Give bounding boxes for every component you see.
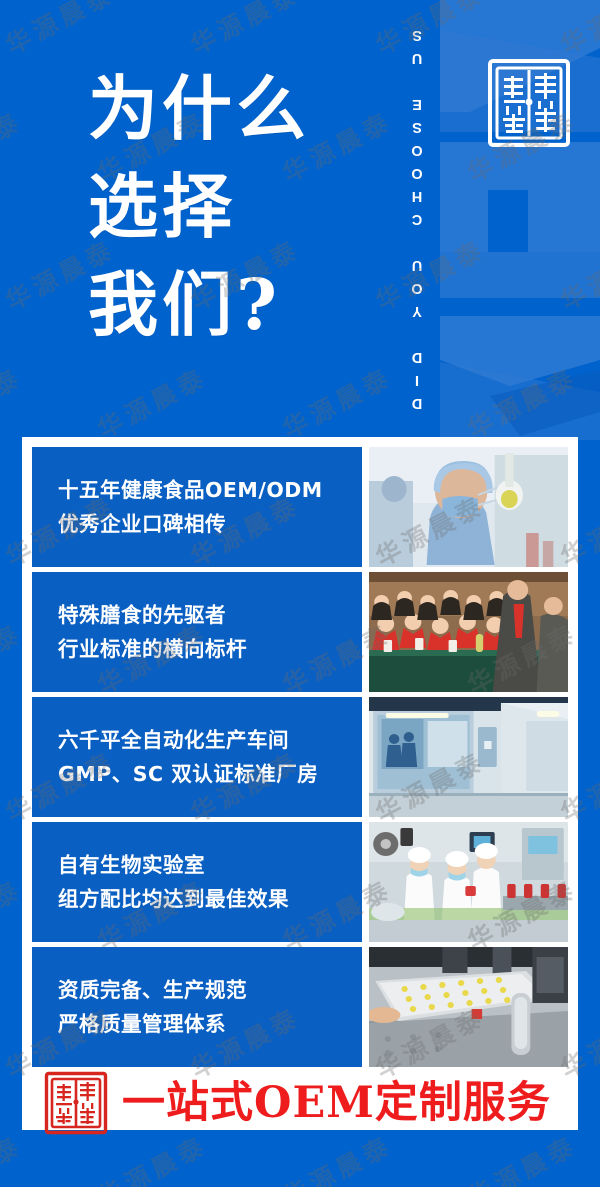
cta-banner-text: 一站式OEM定制服务 [122, 1078, 551, 1128]
feature-card-text: 十五年健康食品OEM/ODM 优秀企业口碑相传 [32, 447, 362, 567]
feature-card[interactable]: 六千平全自动化生产车间 GMP、SC 双认证标准厂房 [32, 697, 568, 817]
seal-icon [486, 56, 572, 150]
feature-card[interactable]: 特殊膳食的先驱者 行业标准的横向标杆 [32, 572, 568, 692]
headline-line-2: 选择 [88, 158, 388, 256]
feature-photo-conference [369, 572, 568, 692]
feature-line-2: 优秀企业口碑相传 [58, 507, 362, 541]
features-panel: 十五年健康食品OEM/ODM 优秀企业口碑相传 [22, 437, 578, 1130]
seal-icon [44, 1071, 108, 1135]
photo-lab-technician [369, 447, 568, 567]
feature-line-1: 自有生物实验室 [58, 848, 362, 882]
feature-card-text: 自有生物实验室 组方配比均达到最佳效果 [32, 822, 362, 942]
feature-line-1: 特殊膳食的先驱者 [58, 598, 362, 632]
feature-line-1: 十五年健康食品OEM/ODM [58, 473, 362, 507]
poster-root: 为什么 选择 我们? DID YOU CHOOSE US [0, 0, 600, 1187]
feature-card[interactable]: 自有生物实验室 组方配比均达到最佳效果 [32, 822, 568, 942]
photo-conference-audience [369, 572, 568, 692]
feature-card-text: 特殊膳食的先驱者 行业标准的横向标杆 [32, 572, 362, 692]
vertical-tagline-text: DID YOU CHOOSE US [409, 20, 425, 411]
photo-cleanroom-corridor [369, 697, 568, 817]
feature-line-2: 组方配比均达到最佳效果 [58, 882, 362, 916]
feature-line-2: 严格质量管理体系 [58, 1007, 362, 1041]
vertical-tagline: DID YOU CHOOSE US [400, 20, 434, 410]
brand-seal-white [486, 56, 572, 150]
feature-card[interactable]: 资质完备、生产规范 严格质量管理体系 [32, 947, 568, 1067]
headline-line-3: 我们? [88, 256, 388, 354]
feature-line-2: 行业标准的横向标杆 [58, 632, 362, 666]
watermark-text: 华源晨泰 [0, 1126, 28, 1187]
page-title: 为什么 选择 我们? [88, 60, 388, 354]
headline-line-1: 为什么 [88, 60, 388, 158]
photo-workers-packaging [369, 822, 568, 942]
photo-blister-packing [369, 947, 568, 1067]
feature-card[interactable]: 十五年健康食品OEM/ODM 优秀企业口碑相传 [32, 447, 568, 567]
feature-photo-blister-machine [369, 947, 568, 1067]
features-list: 十五年健康食品OEM/ODM 优秀企业口碑相传 [32, 447, 568, 1067]
feature-card-text: 资质完备、生产规范 严格质量管理体系 [32, 947, 362, 1067]
feature-photo-packaging-line [369, 822, 568, 942]
feature-photo-cleanroom [369, 697, 568, 817]
brand-seal-red [44, 1071, 108, 1135]
feature-photo-lab-technician [369, 447, 568, 567]
cta-banner[interactable]: 一站式OEM定制服务 [32, 1067, 568, 1139]
feature-line-1: 资质完备、生产规范 [58, 973, 362, 1007]
header-section: 为什么 选择 我们? DID YOU CHOOSE US [0, 0, 600, 437]
feature-card-text: 六千平全自动化生产车间 GMP、SC 双认证标准厂房 [32, 697, 362, 817]
feature-line-1: 六千平全自动化生产车间 [58, 723, 362, 757]
feature-line-2: GMP、SC 双认证标准厂房 [58, 757, 362, 791]
